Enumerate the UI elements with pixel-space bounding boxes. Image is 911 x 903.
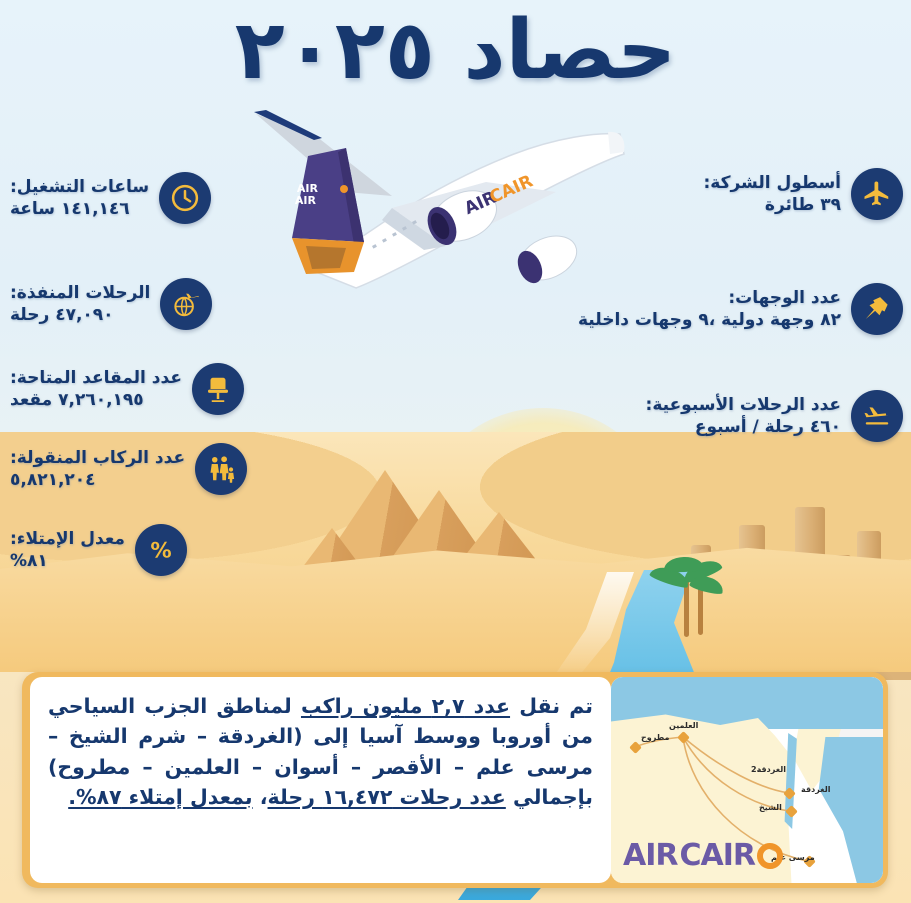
stat-label: أسطول الشركة: — [703, 172, 841, 194]
clock-icon — [159, 172, 211, 224]
stat-available-seats: عدد المقاعد المتاحة: ٧,٢٦٠,١٩٥ مقعد — [10, 363, 244, 415]
stat-label: عدد المقاعد المتاحة: — [10, 367, 182, 389]
stat-text: عدد الوجهات: ٨٢ وجهة دولية ،٩ وجهات داخل… — [578, 287, 841, 332]
stat-fleet-size: أسطول الشركة: ٣٩ طائرة — [703, 168, 903, 220]
air-cairo-logo: AIR CAIR — [623, 838, 781, 873]
airplane-icon — [851, 168, 903, 220]
highlight-passengers: عدد ٢,٧ مليون راكب — [301, 694, 510, 718]
stat-value: ٥,٨٢١,٢٠٤ — [10, 469, 185, 491]
paragraph-part-5: ، — [253, 785, 268, 809]
stat-value: ٨١% — [10, 550, 125, 572]
map-label-hurghada: الغردقة — [801, 785, 830, 794]
stat-label: الرحلات المنفذة: — [10, 282, 150, 304]
stat-label: عدد الوجهات: — [578, 287, 841, 309]
svg-text:%: % — [150, 539, 171, 564]
page-title: حصاد ٢٠٢٥ — [0, 8, 911, 94]
stat-label: عدد الرحلات الأسبوعية: — [646, 394, 841, 416]
stat-label: ساعات التشغيل: — [10, 176, 149, 198]
summary-paragraph: تم نقل عدد ٢,٧ مليون راكب لمناطق الجزب ا… — [30, 677, 611, 883]
stat-weekly-flights: عدد الرحلات الأسبوعية: ٤٦٠ رحلة / أسبوع — [646, 390, 903, 442]
highlight-occupancy: بمعدل إمتلاء ٨٧%. — [68, 785, 252, 809]
paragraph-part-1: تم نقل — [510, 694, 593, 718]
bottom-panel: تم نقل عدد ٢,٧ مليون راكب لمناطق الجزب ا… — [22, 672, 888, 888]
stat-value: ٤٧,٠٩٠ رحلة — [10, 304, 150, 326]
highlight-flights: عدد رحلات ١٦,٤٧٢ رحلة — [268, 785, 506, 809]
stat-value: ٣٩ طائرة — [703, 194, 841, 216]
map-pin-icon — [851, 283, 903, 335]
stat-value: ٤٦٠ رحلة / أسبوع — [646, 416, 841, 438]
route-map: مطروح العلمين الغردقة الغردقة2 الشيخ مرس… — [611, 677, 883, 883]
map-label-hurghada-2: الغردقة2 — [751, 765, 786, 774]
stat-text: عدد الرحلات الأسبوعية: ٤٦٠ رحلة / أسبوع — [646, 394, 841, 439]
logo-text-cairo: CAIR — [679, 838, 755, 873]
seat-icon — [192, 363, 244, 415]
globe-plane-icon — [160, 278, 212, 330]
stat-text: الرحلات المنفذة: ٤٧,٠٩٠ رحلة — [10, 282, 150, 327]
percent-icon: % — [135, 524, 187, 576]
stat-text: ساعات التشغيل: ١٤١,١٤٦ ساعة — [10, 176, 149, 221]
stat-label: عدد الركاب المنقولة: — [10, 447, 185, 469]
stat-value: ٧,٢٦٠,١٩٥ مقعد — [10, 389, 182, 411]
passengers-icon — [195, 443, 247, 495]
logo-text-air: AIR — [623, 838, 677, 873]
stat-text: عدد المقاعد المتاحة: ٧,٢٦٠,١٩٥ مقعد — [10, 367, 182, 412]
stat-label: معدل الإمتلاء: — [10, 528, 125, 550]
air-cairo-airplane: AIR AIR AIR CAIR — [196, 96, 626, 316]
stat-flights-operated: الرحلات المنفذة: ٤٧,٠٩٠ رحلة — [10, 278, 212, 330]
svg-text:AIR: AIR — [295, 194, 317, 207]
departure-plane-icon — [851, 390, 903, 442]
stat-value: ١٤١,١٤٦ ساعة — [10, 198, 149, 220]
stat-text: أسطول الشركة: ٣٩ طائرة — [703, 172, 841, 217]
infographic-poster: AIR AIR AIR CAIR — [0, 0, 911, 903]
stat-destinations: عدد الوجهات: ٨٢ وجهة دولية ،٩ وجهات داخل… — [578, 283, 903, 335]
map-label-alamein: العلمين — [669, 721, 698, 730]
stat-value: ٨٢ وجهة دولية ،٩ وجهات داخلية — [578, 309, 841, 331]
stat-passengers-carried: عدد الركاب المنقولة: ٥,٨٢١,٢٠٤ — [10, 443, 247, 495]
map-label-sharm: الشيخ — [759, 803, 782, 812]
stat-text: معدل الإمتلاء: ٨١% — [10, 528, 125, 573]
stat-occupancy-rate: % معدل الإمتلاء: ٨١% — [10, 524, 187, 576]
logo-ring-icon — [757, 843, 783, 869]
map-label-matrouh: مطروح — [641, 733, 669, 742]
stat-text: عدد الركاب المنقولة: ٥,٨٢١,٢٠٤ — [10, 447, 185, 492]
stat-operating-hours: ساعات التشغيل: ١٤١,١٤٦ ساعة — [10, 172, 211, 224]
